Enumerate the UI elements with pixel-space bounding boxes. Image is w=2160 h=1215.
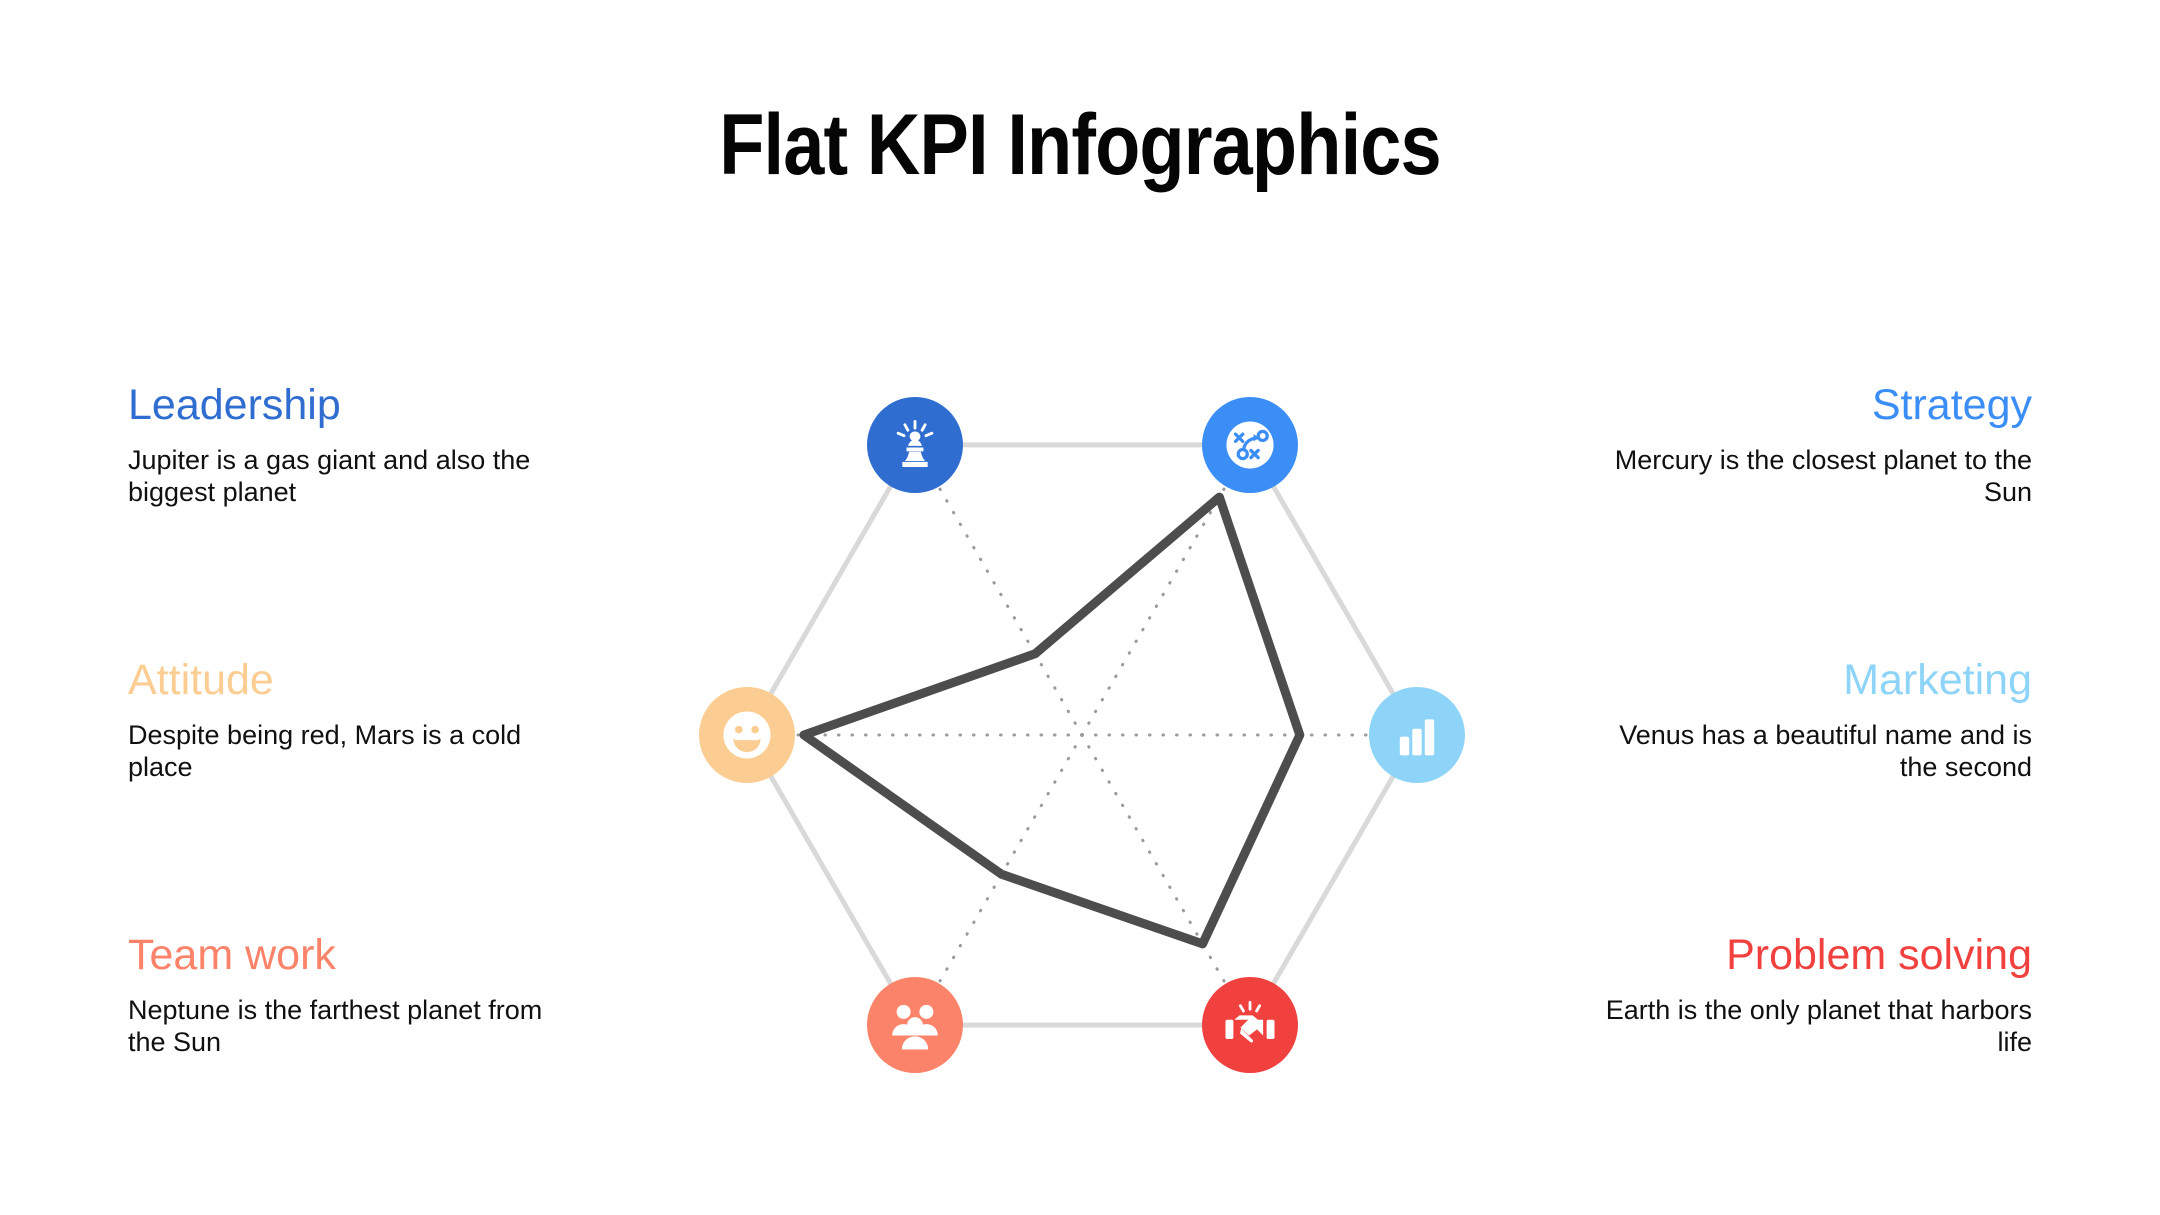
kpi-body-marketing: Venus has a beautiful name and is the se… <box>1592 720 2032 784</box>
icon-node-team-work[interactable] <box>867 977 963 1073</box>
kpi-block-strategy: Strategy Mercury is the closest planet t… <box>1592 382 2032 509</box>
radar-data-polygon <box>804 497 1300 944</box>
kpi-heading-leadership: Leadership <box>128 382 568 429</box>
group-of-people-icon <box>887 997 943 1053</box>
kpi-block-leadership: Leadership Jupiter is a gas giant and al… <box>128 382 568 509</box>
hand-holding-chess-piece-icon <box>888 418 942 472</box>
kpi-body-attitude: Despite being red, Mars is a cold place <box>128 720 568 784</box>
kpi-body-team-work: Neptune is the farthest planet from the … <box>128 995 568 1059</box>
kpi-heading-team-work: Team work <box>128 932 568 979</box>
kpi-heading-marketing: Marketing <box>1592 657 2032 704</box>
kpi-block-attitude: Attitude Despite being red, Mars is a co… <box>128 657 568 784</box>
kpi-heading-attitude: Attitude <box>128 657 568 704</box>
radar-spokes <box>747 445 1417 1025</box>
bar-chart-icon <box>1392 710 1442 760</box>
kpi-block-team-work: Team work Neptune is the farthest planet… <box>128 932 568 1059</box>
handshake-icon <box>1222 997 1278 1053</box>
page-title: Flat KPI Infographics <box>151 96 2009 195</box>
kpi-block-problem-solving: Problem solving Earth is the only planet… <box>1592 932 2032 1059</box>
kpi-body-problem-solving: Earth is the only planet that harbors li… <box>1592 995 2032 1059</box>
icon-node-problem-solving[interactable] <box>1202 977 1298 1073</box>
kpi-heading-strategy: Strategy <box>1592 382 2032 429</box>
radar-spoke <box>1082 735 1250 1025</box>
kpi-block-marketing: Marketing Venus has a beautiful name and… <box>1592 657 2032 784</box>
kpi-body-strategy: Mercury is the closest planet to the Sun <box>1592 445 2032 509</box>
icon-node-strategy[interactable] <box>1202 397 1298 493</box>
icon-node-attitude[interactable] <box>699 687 795 783</box>
kpi-body-leadership: Jupiter is a gas giant and also the bigg… <box>128 445 568 509</box>
slide-canvas: Flat KPI Infographics Leadership Jupiter… <box>0 0 2160 1215</box>
kpi-heading-problem-solving: Problem solving <box>1592 932 2032 979</box>
icon-node-marketing[interactable] <box>1369 687 1465 783</box>
radar-chart <box>610 290 1555 1180</box>
icon-node-leadership[interactable] <box>867 397 963 493</box>
smiley-face-icon <box>718 706 776 764</box>
tactics-playbook-icon <box>1221 416 1279 474</box>
radar-spoke <box>915 735 1083 1025</box>
